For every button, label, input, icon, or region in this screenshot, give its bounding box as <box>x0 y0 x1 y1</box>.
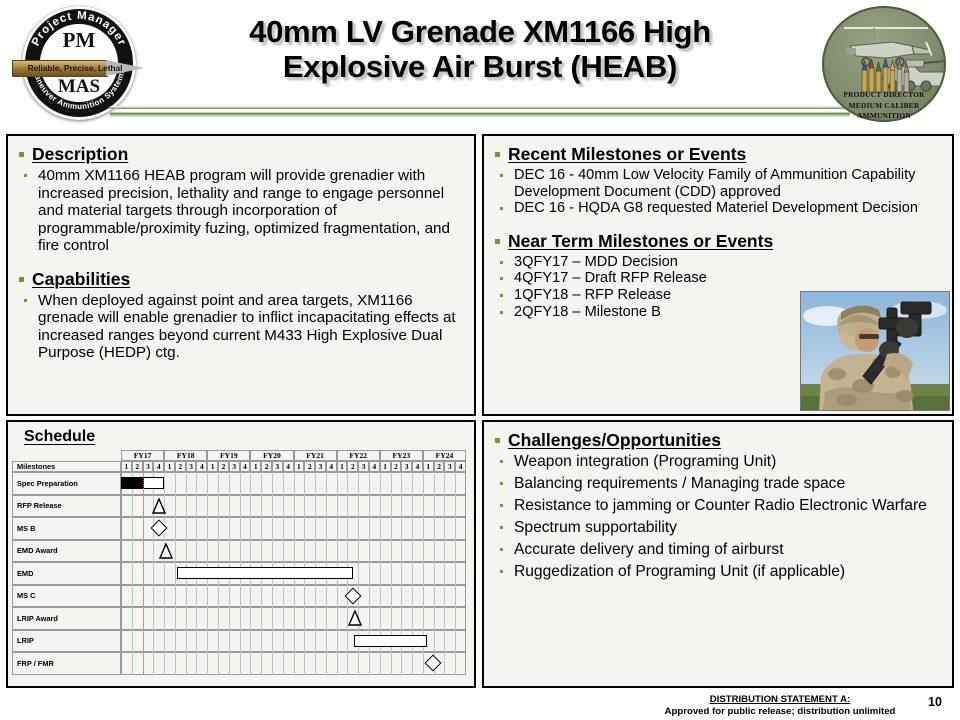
gantt-gridline <box>434 517 435 540</box>
ammunition-rounds-icon <box>860 58 912 94</box>
gantt-gridline <box>347 652 348 675</box>
gantt-gridline <box>283 630 284 653</box>
schedule-panel: Schedule FY17FY18FY19FY20FY21FY22FY23FY2… <box>6 420 476 688</box>
gantt-gridline <box>337 472 338 495</box>
challenges-heading: Challenges/Opportunities <box>492 430 942 451</box>
gantt-bar-open <box>354 635 427 647</box>
gantt-gridline <box>294 607 295 630</box>
gantt-gridline <box>272 472 273 495</box>
gantt-gridline <box>207 540 208 563</box>
gantt-quarter-header: 4 <box>369 461 380 472</box>
gantt-gridline <box>250 472 251 495</box>
gantt-gridline <box>369 495 370 518</box>
gantt-gridline <box>229 517 230 540</box>
gantt-milestone-triangle <box>159 543 173 559</box>
gantt-gridline <box>455 562 456 585</box>
gantt-gridline <box>358 495 359 518</box>
header-rule-thin <box>110 106 850 109</box>
gantt-gridline <box>175 630 176 653</box>
gantt-gridline <box>434 472 435 495</box>
gantt-gridline <box>444 607 445 630</box>
gantt-gridline <box>326 472 327 495</box>
gantt-milestone-triangle <box>152 498 166 514</box>
gantt-fy-header: FY18 <box>164 450 207 461</box>
gantt-gridline <box>444 540 445 563</box>
gantt-row-label: LRIP <box>12 630 121 653</box>
gantt-quarter-header: 4 <box>196 461 207 472</box>
gantt-gridline <box>391 495 392 518</box>
gantt-gridline <box>444 562 445 585</box>
gantt-gridline <box>401 562 402 585</box>
gantt-gridline <box>153 652 154 675</box>
gantt-gridline <box>358 540 359 563</box>
gantt-gridline <box>380 562 381 585</box>
gantt-gridline <box>196 517 197 540</box>
gantt-gridline <box>207 607 208 630</box>
gantt-gridline <box>261 517 262 540</box>
gantt-gridline <box>347 540 348 563</box>
list-item: DEC 16 - 40mm Low Velocity Family of Amm… <box>492 167 942 200</box>
gantt-gridline <box>315 607 316 630</box>
gantt-gridline <box>240 517 241 540</box>
gantt-gridline <box>229 540 230 563</box>
pd-mca-caption-line2: MEDIUM CALIBER <box>822 101 946 112</box>
gantt-gridline <box>337 495 338 518</box>
gantt-gridline <box>380 607 381 630</box>
gantt-gridline <box>304 517 305 540</box>
pd-mca-caption: PRODUCT DIRECTOR MEDIUM CALIBER AMMUNITI… <box>822 90 946 122</box>
gantt-quarter-header: 2 <box>218 461 229 472</box>
gantt-gridline <box>391 540 392 563</box>
gantt-gridline <box>250 517 251 540</box>
gantt-gridline <box>369 585 370 608</box>
gantt-gridline <box>401 517 402 540</box>
gantt-gridline <box>423 495 424 518</box>
gantt-bar-open <box>177 567 353 579</box>
gantt-gridline <box>304 472 305 495</box>
gantt-quarter-header: 1 <box>164 461 175 472</box>
gantt-gridline <box>261 607 262 630</box>
gantt-quarter-header: 2 <box>132 461 143 472</box>
gantt-gridline <box>272 540 273 563</box>
gantt-gridline <box>380 585 381 608</box>
gantt-quarter-header: 4 <box>283 461 294 472</box>
gantt-gridline <box>455 517 456 540</box>
gantt-gridline <box>423 607 424 630</box>
gantt-gridline <box>196 585 197 608</box>
gantt-gridline <box>444 495 445 518</box>
seal-slogan: Reliable, Precise, Lethal <box>12 62 138 75</box>
gantt-quarter-header: 4 <box>240 461 251 472</box>
gantt-gridline <box>250 607 251 630</box>
gantt-gridline <box>380 517 381 540</box>
gantt-gridline <box>196 495 197 518</box>
gantt-gridline <box>240 585 241 608</box>
gantt-gridline <box>240 472 241 495</box>
description-block: Description 40mm XM1166 HEAB program wil… <box>8 136 474 362</box>
page-title-line1: 40mm LV Grenade XM1166 High <box>150 14 810 49</box>
gantt-gridline <box>186 607 187 630</box>
gantt-gridline <box>294 585 295 608</box>
gantt-gridline <box>401 495 402 518</box>
gantt-gridline <box>315 540 316 563</box>
gantt-gridline <box>175 607 176 630</box>
gantt-quarter-header: 1 <box>337 461 348 472</box>
gantt-gridline <box>229 652 230 675</box>
gantt-gridline <box>164 472 165 495</box>
gantt-gridline <box>380 652 381 675</box>
gantt-gridline <box>391 562 392 585</box>
gantt-fy-header: FY24 <box>423 450 466 461</box>
gantt-gridline <box>186 540 187 563</box>
list-item: Balancing requirements / Managing trade … <box>492 475 942 493</box>
description-body: 40mm XM1166 HEAB program will provide gr… <box>16 167 464 255</box>
gantt-gridline <box>218 495 219 518</box>
gantt-gridline <box>261 472 262 495</box>
list-item: Resistance to jamming or Counter Radio E… <box>492 497 942 515</box>
gantt-gridline <box>369 472 370 495</box>
gantt-gridline <box>153 630 154 653</box>
gantt-gridline <box>153 607 154 630</box>
page-title: 40mm LV Grenade XM1166 High Explosive Ai… <box>150 14 810 85</box>
gantt-gridline <box>434 630 435 653</box>
gantt-gridline <box>401 607 402 630</box>
gantt-bar-filled <box>121 477 143 489</box>
description-heading: Description <box>16 144 464 165</box>
gantt-gridline <box>304 540 305 563</box>
gantt-gridline <box>153 540 154 563</box>
gantt-quarter-header: 3 <box>272 461 283 472</box>
gantt-gridline <box>358 517 359 540</box>
gantt-gridline <box>196 652 197 675</box>
seal-mas-label: MAS <box>40 76 118 98</box>
distribution-statement: DISTRIBUTION STATEMENT A: Approved for p… <box>660 694 900 718</box>
gantt-gridline <box>444 585 445 608</box>
soldier-photo <box>800 291 950 411</box>
gantt-gridline <box>207 585 208 608</box>
gantt-gridline <box>207 517 208 540</box>
gantt-gridline <box>132 652 133 675</box>
capabilities-heading: Capabilities <box>16 269 464 290</box>
gantt-gridline <box>304 585 305 608</box>
gantt-quarter-header: 2 <box>391 461 402 472</box>
gantt-today-line <box>143 461 144 675</box>
gantt-quarter-header: 1 <box>207 461 218 472</box>
gantt-gridline <box>455 472 456 495</box>
gantt-gridline <box>337 630 338 653</box>
gantt-gridline <box>423 540 424 563</box>
gantt-gridline <box>261 495 262 518</box>
gantt-row-label: MS C <box>12 585 121 608</box>
gantt-gridline <box>315 472 316 495</box>
gantt-quarter-header: 1 <box>423 461 434 472</box>
list-item: Accurate delivery and timing of airburst <box>492 541 942 559</box>
gantt-gridline <box>218 540 219 563</box>
schedule-heading: Schedule <box>24 428 95 446</box>
gantt-chart: FY17FY18FY19FY20FY21FY22FY23FY2412341234… <box>12 450 470 682</box>
distribution-statement-body: Approved for public release; distributio… <box>660 706 900 718</box>
gantt-gridline <box>218 472 219 495</box>
gantt-gridline <box>326 585 327 608</box>
gantt-gridline <box>132 517 133 540</box>
gantt-gridline <box>434 607 435 630</box>
gantt-gridline <box>132 607 133 630</box>
seal-pm-label: PM <box>40 28 118 53</box>
pd-mca-caption-line1: PRODUCT DIRECTOR <box>822 90 946 101</box>
gantt-gridline <box>196 607 197 630</box>
gantt-gridline <box>186 517 187 540</box>
gantt-quarter-header: 3 <box>358 461 369 472</box>
gantt-gridline <box>186 495 187 518</box>
gantt-gridline <box>132 562 133 585</box>
gantt-gridline <box>175 517 176 540</box>
gantt-gridline <box>358 652 359 675</box>
gantt-gridline <box>380 495 381 518</box>
gantt-gridline <box>358 562 359 585</box>
gantt-gridline <box>369 540 370 563</box>
gantt-row-label: RFP Release <box>12 495 121 518</box>
gantt-gridline <box>326 652 327 675</box>
gantt-gridline <box>164 630 165 653</box>
challenges-panel: Challenges/Opportunities Weapon integrat… <box>482 420 954 688</box>
gantt-gridline <box>186 472 187 495</box>
slide-root: Project Manager Maneuver Ammunition Syst… <box>0 0 960 720</box>
capabilities-body: When deployed against point and area tar… <box>16 292 464 362</box>
gantt-gridline <box>423 652 424 675</box>
gantt-gridline <box>240 652 241 675</box>
distribution-statement-title: DISTRIBUTION STATEMENT A: <box>660 694 900 706</box>
gantt-row-label: Spec Preparation <box>12 472 121 495</box>
list-item: DEC 16 - HQDA G8 requested Materiel Deve… <box>492 200 942 217</box>
gantt-quarter-header: 4 <box>153 461 164 472</box>
gantt-gridline <box>272 585 273 608</box>
near-term-milestones-heading: Near Term Milestones or Events <box>492 231 942 252</box>
gantt-gridline <box>261 630 262 653</box>
gantt-gridline <box>412 585 413 608</box>
gantt-gridline <box>391 607 392 630</box>
list-item: 3QFY17 – MDD Decision <box>492 254 942 271</box>
gantt-gridline <box>326 517 327 540</box>
gantt-gridline <box>132 630 133 653</box>
gantt-gridline <box>304 652 305 675</box>
gantt-gridline <box>423 585 424 608</box>
gantt-gridline <box>423 517 424 540</box>
soldier-photo-illustration <box>801 292 949 410</box>
list-item: 4QFY17 – Draft RFP Release <box>492 270 942 287</box>
gantt-gridline <box>229 585 230 608</box>
gantt-gridline <box>434 562 435 585</box>
gantt-gridline <box>229 607 230 630</box>
gantt-gridline <box>207 495 208 518</box>
gantt-fy-header: FY21 <box>294 450 337 461</box>
gantt-gridline <box>412 517 413 540</box>
gantt-gridline <box>444 472 445 495</box>
gantt-gridline <box>347 630 348 653</box>
gantt-gridline <box>229 630 230 653</box>
gantt-gridline <box>175 472 176 495</box>
gantt-gridline <box>369 607 370 630</box>
gantt-gridline <box>412 562 413 585</box>
list-item: Ruggedization of Programing Unit (if app… <box>492 563 942 581</box>
challenges-block: Challenges/Opportunities Weapon integrat… <box>484 422 952 581</box>
gantt-quarter-header: 3 <box>444 461 455 472</box>
gantt-quarter-header: 2 <box>304 461 315 472</box>
list-item: Weapon integration (Programing Unit) <box>492 453 942 471</box>
gantt-quarter-header: 2 <box>175 461 186 472</box>
gantt-gridline <box>369 517 370 540</box>
gantt-gridline <box>455 495 456 518</box>
gantt-gridline <box>218 630 219 653</box>
gantt-gridline <box>250 630 251 653</box>
gantt-gridline <box>401 540 402 563</box>
gantt-gridline <box>218 585 219 608</box>
gantt-gridline <box>240 607 241 630</box>
gantt-gridline <box>207 472 208 495</box>
gantt-gridline <box>132 540 133 563</box>
list-item: Spectrum supportability <box>492 519 942 537</box>
gantt-gridline <box>186 652 187 675</box>
gantt-gridline <box>315 585 316 608</box>
gantt-gridline <box>391 472 392 495</box>
gantt-gridline <box>304 495 305 518</box>
gantt-fy-header: FY19 <box>207 450 250 461</box>
gantt-gridline <box>272 517 273 540</box>
gantt-gridline <box>250 585 251 608</box>
gantt-quarter-header: 1 <box>380 461 391 472</box>
gantt-gridline <box>272 630 273 653</box>
gantt-quarter-header: 4 <box>455 461 466 472</box>
gantt-gridline <box>164 652 165 675</box>
gantt-fy-header: FY22 <box>337 450 380 461</box>
gantt-gridline <box>272 652 273 675</box>
gantt-fy-header: FY20 <box>250 450 293 461</box>
gantt-gridline <box>337 540 338 563</box>
slide-header: Project Manager Maneuver Ammunition Syst… <box>0 0 960 128</box>
gantt-gridline <box>250 652 251 675</box>
gantt-gridline <box>283 607 284 630</box>
gantt-gridline <box>175 495 176 518</box>
gantt-quarter-header: 4 <box>412 461 423 472</box>
gantt-gridline <box>283 540 284 563</box>
pm-mas-seal: Project Manager Maneuver Ammunition Syst… <box>8 4 148 122</box>
gantt-gridline <box>412 607 413 630</box>
gantt-gridline <box>240 630 241 653</box>
gantt-gridline <box>196 630 197 653</box>
gantt-gridline <box>434 495 435 518</box>
gantt-gridline <box>315 630 316 653</box>
gantt-gridline <box>272 607 273 630</box>
gantt-gridline <box>218 607 219 630</box>
gantt-gridline <box>369 562 370 585</box>
gantt-gridline <box>423 472 424 495</box>
gantt-gridline <box>294 630 295 653</box>
gantt-gridline <box>444 517 445 540</box>
gantt-gridline <box>153 585 154 608</box>
gantt-gridline <box>164 562 165 585</box>
gantt-gridline <box>294 472 295 495</box>
gantt-gridline <box>196 540 197 563</box>
gantt-gridline <box>358 472 359 495</box>
gantt-quarter-header: 1 <box>250 461 261 472</box>
gantt-gridline <box>218 517 219 540</box>
gantt-row-label: LRIP Award <box>12 607 121 630</box>
gantt-gridline <box>401 472 402 495</box>
spacer <box>492 217 942 231</box>
gantt-gridline <box>294 540 295 563</box>
gantt-gridline <box>423 562 424 585</box>
gantt-gridline <box>412 495 413 518</box>
gantt-gridline <box>261 652 262 675</box>
gantt-gridline <box>455 630 456 653</box>
gantt-gridline <box>283 585 284 608</box>
gantt-gridline <box>186 630 187 653</box>
gantt-gridline <box>164 585 165 608</box>
gantt-gridline <box>369 652 370 675</box>
gantt-gridline <box>196 472 197 495</box>
gantt-bar-open <box>143 477 165 489</box>
gantt-gridline <box>455 607 456 630</box>
gantt-gridline <box>337 517 338 540</box>
gantt-gridline <box>434 540 435 563</box>
gantt-gridline <box>401 652 402 675</box>
gantt-milestones-header: Milestones <box>12 461 121 472</box>
gantt-gridline <box>455 652 456 675</box>
gantt-gridline <box>218 652 219 675</box>
gantt-gridline <box>240 495 241 518</box>
gantt-gridline <box>347 517 348 540</box>
gantt-quarter-header: 3 <box>401 461 412 472</box>
gantt-gridline <box>326 630 327 653</box>
gantt-gridline <box>326 495 327 518</box>
header-rule <box>110 112 850 117</box>
gantt-gridline <box>391 652 392 675</box>
gantt-gridline <box>132 495 133 518</box>
gantt-row-label: FRP / FMR <box>12 652 121 675</box>
gantt-gridline <box>412 472 413 495</box>
gantt-fy-header: FY23 <box>380 450 423 461</box>
page-title-line2: Explosive Air Burst (HEAB) <box>150 49 810 84</box>
gantt-gridline <box>229 472 230 495</box>
gantt-gridline <box>304 630 305 653</box>
gantt-gridline <box>444 652 445 675</box>
gantt-gridline <box>164 607 165 630</box>
gantt-gridline <box>175 540 176 563</box>
gantt-gridline <box>283 517 284 540</box>
gantt-gridline <box>434 585 435 608</box>
recent-milestones-heading: Recent Milestones or Events <box>492 144 942 165</box>
gantt-gridline <box>175 652 176 675</box>
gantt-gridline <box>337 652 338 675</box>
gantt-gridline <box>304 607 305 630</box>
gantt-gridline <box>412 540 413 563</box>
gantt-gridline <box>455 585 456 608</box>
gantt-gridline <box>337 585 338 608</box>
gantt-gridline <box>186 585 187 608</box>
gantt-gridline <box>207 630 208 653</box>
gantt-quarter-header: 2 <box>347 461 358 472</box>
gantt-gridline <box>175 585 176 608</box>
gantt-gridline <box>326 540 327 563</box>
gantt-quarter-header: 1 <box>121 461 132 472</box>
gantt-quarter-header: 1 <box>294 461 305 472</box>
gantt-row-label: EMD <box>12 562 121 585</box>
gantt-quarter-header: 3 <box>229 461 240 472</box>
gantt-milestone-triangle <box>348 610 362 626</box>
gantt-quarter-header: 2 <box>434 461 445 472</box>
page-number: 10 <box>928 695 942 709</box>
gantt-gridline <box>229 495 230 518</box>
gantt-quarter-header: 2 <box>261 461 272 472</box>
